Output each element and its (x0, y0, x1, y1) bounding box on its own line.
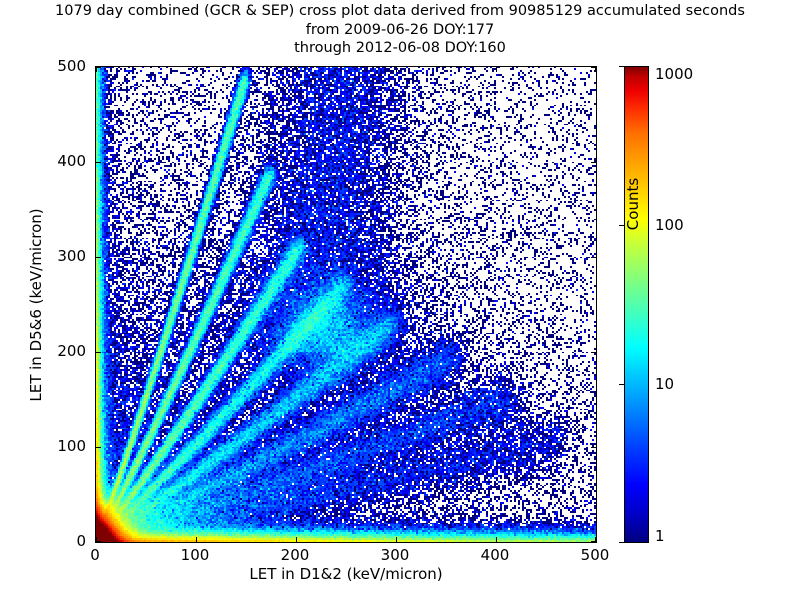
y-axis-label: LET in D5&6 (keV/micron) (27, 165, 45, 445)
y-tick-100 (591, 447, 596, 448)
y-tick-500 (96, 67, 101, 68)
y-tick-0 (96, 541, 101, 542)
colorbar-label-10: 10 (655, 375, 674, 393)
colorbar-title: Counts (624, 104, 642, 304)
x-tick-label-0: 0 (90, 546, 100, 564)
y-tick-300 (96, 257, 101, 258)
x-tick-label-300: 300 (381, 546, 410, 564)
title-line-2: from 2009-06-26 DOY:177 (0, 21, 800, 40)
x-tick-100 (196, 537, 197, 542)
y-tick-label-500: 500 (57, 57, 86, 75)
colorbar-tick-10 (619, 384, 624, 385)
x-tick-label-500: 500 (581, 546, 610, 564)
y-tick-label-100: 100 (57, 437, 86, 455)
y-tick-200 (591, 352, 596, 353)
x-tick-label-400: 400 (481, 546, 510, 564)
x-tick-label-200: 200 (281, 546, 310, 564)
plot-axes[interactable] (95, 66, 597, 543)
scatter-density-canvas (96, 67, 596, 542)
x-axis-label: LET in D1&2 (keV/micron) (95, 565, 597, 583)
x-tick-300 (396, 537, 397, 542)
colorbar-tick-1 (619, 542, 624, 543)
y-tick-label-400: 400 (57, 152, 86, 170)
title-line-3: through 2012-06-08 DOY:160 (0, 39, 800, 58)
x-tick-300 (396, 67, 397, 72)
y-tick-0 (591, 541, 596, 542)
y-tick-label-200: 200 (57, 342, 86, 360)
y-tick-100 (96, 447, 101, 448)
y-tick-300 (591, 257, 596, 258)
x-tick-100 (196, 67, 197, 72)
x-tick-200 (296, 67, 297, 72)
figure-title: 1079 day combined (GCR & SEP) cross plot… (0, 2, 800, 58)
x-tick-400 (496, 67, 497, 72)
x-tick-label-100: 100 (181, 546, 210, 564)
y-tick-400 (96, 162, 101, 163)
colorbar-label-1: 1 (655, 527, 665, 545)
colorbar-label-1000: 1000 (655, 65, 693, 83)
x-tick-400 (496, 537, 497, 542)
x-tick-200 (296, 537, 297, 542)
y-tick-label-300: 300 (57, 247, 86, 265)
colorbar-label-100: 100 (655, 216, 684, 234)
figure-root: 1079 day combined (GCR & SEP) cross plot… (0, 0, 800, 600)
y-tick-200 (96, 352, 101, 353)
y-tick-label-0: 0 (76, 532, 86, 550)
y-tick-500 (591, 67, 596, 68)
colorbar-tick-1000 (619, 66, 624, 67)
y-tick-400 (591, 162, 596, 163)
title-line-1: 1079 day combined (GCR & SEP) cross plot… (0, 2, 800, 21)
